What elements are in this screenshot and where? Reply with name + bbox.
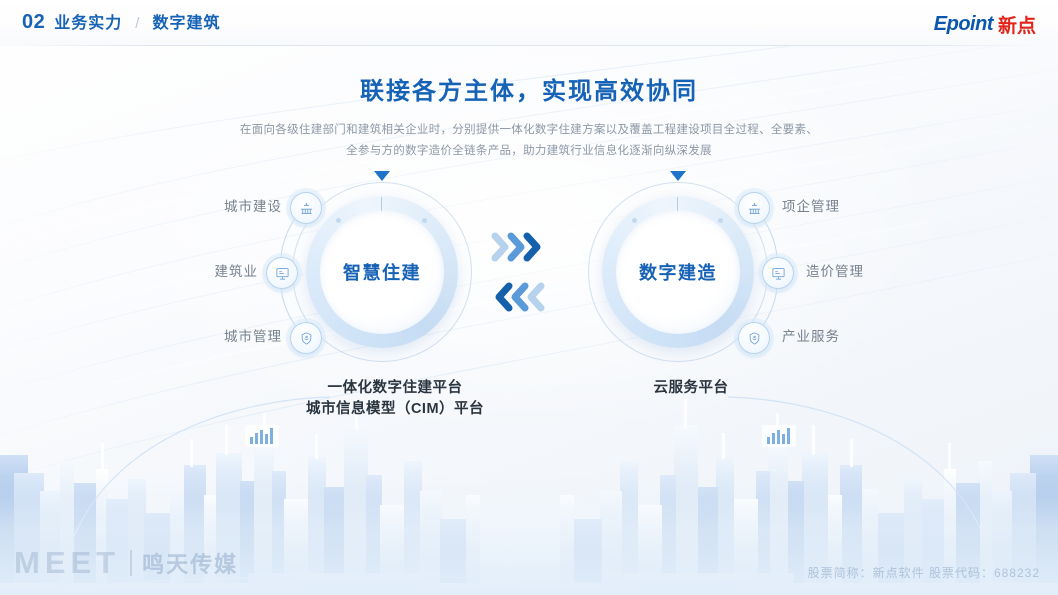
diagram-group-right: 数字建造 [588,182,888,362]
brand-logo: Epoint 新点 [934,11,1036,38]
shield-leaf-icon [299,331,314,346]
flow-chevrons [489,228,559,320]
label-project-enterprise-management: 项企管理 [782,195,840,215]
breadcrumb-separator: / [135,15,139,32]
government-building-icon [747,201,762,216]
breadcrumb: 02 业务实力 / 数字建筑 [22,9,220,34]
logo-text-en: Epoint [934,13,993,36]
node-industry-service[interactable] [738,322,770,354]
label-industry-service: 产业服务 [782,325,840,345]
right-caption: 云服务平台 [560,378,822,399]
left-core-label: 智慧住建 [343,259,421,285]
section-number: 02 [22,11,45,34]
label-city-management: 城市管理 [224,325,282,345]
left-caption-line-2: 城市信息模型（CIM）平台 [214,399,576,420]
slide-header: 02 业务实力 / 数字建筑 Epoint 新点 [0,0,1058,46]
left-triangle-marker-icon [374,171,390,181]
label-construction-industry: 建筑业 [215,260,259,280]
monitor-screen-icon [275,266,290,281]
diagram-area: 智慧住建 [0,0,1058,595]
section-title: 业务实力 [54,9,122,33]
right-core-label: 数字建造 [639,259,717,285]
logo-text-cn: 新点 [998,11,1036,38]
node-construction-industry[interactable] [266,257,298,289]
label-cost-management: 造价管理 [806,260,864,280]
left-caption: 一体化数字住建平台 城市信息模型（CIM）平台 [214,378,576,420]
diagram-group-left: 智慧住建 [190,182,490,362]
node-project-enterprise-management[interactable] [738,192,770,224]
node-cost-management[interactable] [762,257,794,289]
right-caption-line-1: 云服务平台 [560,378,822,399]
monitor-screen-icon [771,266,786,281]
node-city-construction[interactable] [290,192,322,224]
shield-leaf-icon [747,331,762,346]
left-caption-line-1: 一体化数字住建平台 [214,378,576,399]
slide-canvas: 02 业务实力 / 数字建筑 Epoint 新点 联接各方主体，实现高效协同 在… [0,0,1058,595]
subsection-title: 数字建筑 [152,9,220,33]
label-city-construction: 城市建设 [224,195,282,215]
chevrons-left-icon [499,286,541,308]
government-building-icon [299,201,314,216]
node-city-management[interactable] [290,322,322,354]
right-triangle-marker-icon [670,171,686,181]
chevrons-right-icon [495,236,537,258]
